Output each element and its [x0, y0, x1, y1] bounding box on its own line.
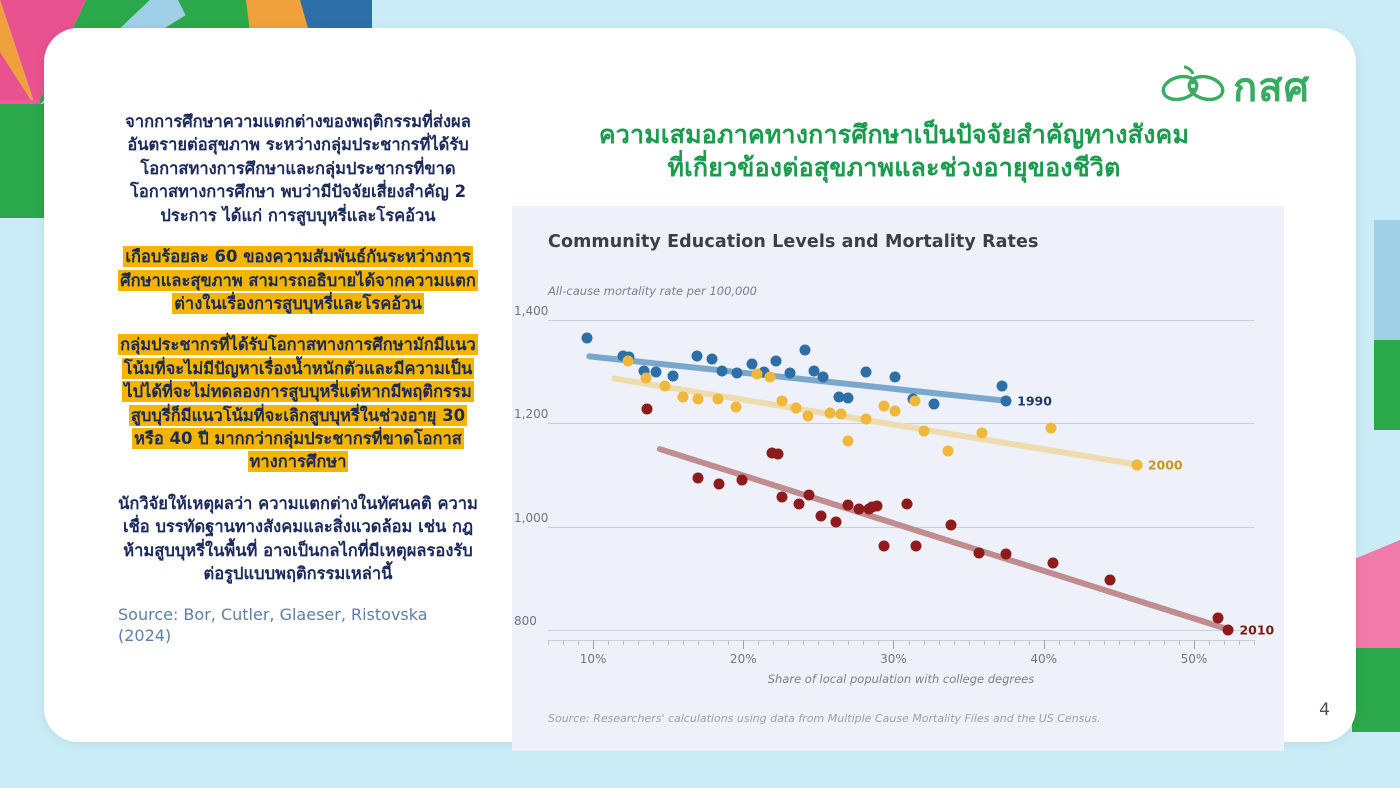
x-tick-minor — [1254, 640, 1255, 645]
data-point-2000 — [889, 406, 900, 417]
x-tick-minor — [1074, 640, 1075, 645]
data-point-1990 — [817, 372, 828, 383]
data-point-2010 — [736, 475, 747, 486]
data-point-1990 — [929, 398, 940, 409]
page-title-line-2: ที่เกี่ยวข้องต่อสุขภาพและช่วงอายุของชีวิ… — [514, 151, 1274, 184]
x-tick-minor — [909, 640, 910, 645]
data-point-2000 — [843, 435, 854, 446]
x-tick-label: 20% — [730, 652, 757, 666]
data-point-2010 — [772, 449, 783, 460]
y-axis-label: All-cause mortality rate per 100,000 — [548, 284, 757, 298]
data-point-2010 — [902, 499, 913, 510]
x-tick-label: 10% — [580, 652, 607, 666]
x-axis: 10%20%30%40%50% — [548, 640, 1254, 641]
data-point-1990 — [651, 366, 662, 377]
data-point-2010 — [945, 520, 956, 531]
data-point-2010 — [642, 404, 653, 415]
brand-wordmark: กสศ — [1233, 68, 1310, 108]
x-tick-minor — [924, 640, 925, 645]
data-point-2010 — [1212, 613, 1223, 624]
gridline — [548, 630, 1254, 631]
x-tick-major — [743, 640, 744, 649]
x-tick-minor — [1224, 640, 1225, 645]
x-tick-minor — [563, 640, 564, 645]
x-tick-minor — [698, 640, 699, 645]
legend-label-1990: 1990 — [1017, 394, 1052, 409]
data-point-2010 — [693, 473, 704, 484]
data-point-2000 — [640, 372, 651, 383]
data-point-2000 — [678, 391, 689, 402]
data-point-2000 — [825, 407, 836, 418]
x-tick-minor — [668, 640, 669, 645]
scatter-plot-area: 1,4001,2001,000800199020002010 — [548, 310, 1254, 640]
data-point-1990 — [996, 380, 1007, 391]
data-point-1990 — [732, 367, 743, 378]
paragraph-4-text: นักวิจัยให้เหตุผลว่า ความแตกต่างในทัศนคต… — [118, 494, 478, 583]
x-tick-label: 30% — [880, 652, 907, 666]
data-point-2000 — [730, 401, 741, 412]
data-point-2010 — [843, 499, 854, 510]
page-title-line-1: ความเสมอภาคทางการศึกษาเป็นปัจจัยสำคัญทาง… — [514, 118, 1274, 151]
data-point-2010 — [831, 517, 842, 528]
x-tick-major — [893, 640, 894, 649]
x-tick-minor — [638, 640, 639, 645]
data-point-1990 — [889, 372, 900, 383]
y-tick-label: 800 — [514, 614, 537, 630]
data-point-2000 — [835, 408, 846, 419]
left-text-column: จากการศึกษาความแตกต่างของพฤติกรรมที่ส่งผ… — [118, 110, 478, 647]
legend-label-2010: 2010 — [1239, 622, 1274, 637]
data-point-2010 — [793, 498, 804, 509]
data-point-2000 — [751, 369, 762, 380]
data-point-2010 — [879, 541, 890, 552]
data-point-2000 — [693, 394, 704, 405]
x-tick-minor — [1119, 640, 1120, 645]
paragraph-2-text: เกือบร้อยละ 60 ของความสัมพันธ์กันระหว่าง… — [118, 246, 478, 314]
x-tick-minor — [1104, 640, 1105, 645]
data-point-2010 — [816, 511, 827, 522]
x-tick-minor — [623, 640, 624, 645]
butterfly-logo-icon — [1161, 64, 1225, 112]
x-tick-minor — [939, 640, 940, 645]
data-point-2010 — [1047, 557, 1058, 568]
x-tick-minor — [578, 640, 579, 645]
legend-marker-2010 — [1223, 624, 1234, 635]
x-tick-minor — [984, 640, 985, 645]
x-tick-minor — [833, 640, 834, 645]
x-tick-label: 50% — [1181, 652, 1208, 666]
bottom-right-decoration — [1352, 540, 1400, 732]
x-tick-minor — [1209, 640, 1210, 645]
x-tick-minor — [1164, 640, 1165, 645]
data-point-2000 — [879, 401, 890, 412]
slide-card: กสศ ความเสมอภาคทางการศึกษาเป็นปัจจัยสำคั… — [44, 28, 1356, 742]
chart-panel: Community Education Levels and Mortality… — [512, 206, 1284, 751]
data-point-1990 — [784, 368, 795, 379]
data-point-2000 — [861, 413, 872, 424]
chart-title: Community Education Levels and Mortality… — [548, 232, 1039, 252]
data-point-2000 — [942, 446, 953, 457]
x-tick-minor — [758, 640, 759, 645]
data-point-2000 — [765, 372, 776, 383]
data-point-2000 — [909, 396, 920, 407]
x-tick-minor — [1089, 640, 1090, 645]
x-tick-major — [1044, 640, 1045, 649]
x-tick-minor — [683, 640, 684, 645]
data-point-1990 — [843, 393, 854, 404]
trendline-2010 — [656, 445, 1230, 632]
x-tick-minor — [969, 640, 970, 645]
x-tick-minor — [1014, 640, 1015, 645]
x-tick-minor — [653, 640, 654, 645]
data-point-2010 — [1104, 575, 1115, 586]
x-tick-minor — [773, 640, 774, 645]
paragraph-1: จากการศึกษาความแตกต่างของพฤติกรรมที่ส่งผ… — [118, 110, 478, 227]
paragraph-3-text: กลุ่มประชากรที่ได้รับโอกาสทางการศึกษามัก… — [118, 334, 478, 472]
data-point-2010 — [871, 500, 882, 511]
legend-label-2000: 2000 — [1148, 457, 1183, 472]
data-point-2000 — [622, 355, 633, 366]
data-point-1990 — [582, 332, 593, 343]
page-number: 4 — [1319, 700, 1330, 720]
data-point-2010 — [911, 541, 922, 552]
data-point-1990 — [706, 353, 717, 364]
x-tick-minor — [1149, 640, 1150, 645]
data-point-2000 — [660, 381, 671, 392]
data-point-2010 — [714, 479, 725, 490]
data-point-1990 — [861, 367, 872, 378]
data-point-2000 — [777, 396, 788, 407]
x-tick-label: 40% — [1030, 652, 1057, 666]
data-point-2000 — [790, 402, 801, 413]
data-point-1990 — [799, 344, 810, 355]
right-edge-decoration — [1374, 220, 1400, 430]
paragraph-2-highlighted: เกือบร้อยละ 60 ของความสัมพันธ์กันระหว่าง… — [118, 245, 478, 315]
x-tick-minor — [788, 640, 789, 645]
x-tick-minor — [999, 640, 1000, 645]
paragraph-1-text: จากการศึกษาความแตกต่างของพฤติกรรมที่ส่งผ… — [125, 112, 471, 225]
data-point-2010 — [1001, 549, 1012, 560]
data-point-2010 — [804, 489, 815, 500]
legend-marker-1990 — [1001, 396, 1012, 407]
chart-source-citation: Source: Researchers' calculations using … — [548, 712, 1101, 725]
y-tick-label: 1,200 — [514, 407, 548, 423]
x-tick-minor — [1239, 640, 1240, 645]
x-tick-minor — [548, 640, 549, 645]
data-point-2000 — [977, 427, 988, 438]
data-point-1990 — [667, 371, 678, 382]
data-point-2010 — [974, 548, 985, 559]
data-point-1990 — [717, 365, 728, 376]
x-tick-minor — [848, 640, 849, 645]
x-tick-minor — [608, 640, 609, 645]
y-tick-label: 1,400 — [514, 304, 548, 320]
legend-marker-2000 — [1131, 459, 1142, 470]
data-point-1990 — [691, 351, 702, 362]
data-point-2010 — [777, 491, 788, 502]
x-tick-minor — [713, 640, 714, 645]
x-tick-minor — [818, 640, 819, 645]
x-tick-minor — [1134, 640, 1135, 645]
brand-logo: กสศ — [1161, 64, 1310, 112]
data-point-2000 — [712, 394, 723, 405]
paragraph-4: นักวิจัยให้เหตุผลว่า ความแตกต่างในทัศนคต… — [118, 492, 478, 586]
gridline — [548, 320, 1254, 321]
y-tick-label: 1,000 — [514, 511, 548, 527]
data-point-2000 — [1046, 422, 1057, 433]
x-tick-minor — [803, 640, 804, 645]
x-tick-major — [1194, 640, 1195, 649]
x-axis-label: Share of local population with college d… — [548, 672, 1254, 686]
page-title: ความเสมอภาคทางการศึกษาเป็นปัจจัยสำคัญทาง… — [514, 118, 1274, 184]
x-tick-minor — [1029, 640, 1030, 645]
paragraph-3-highlighted: กลุ่มประชากรที่ได้รับโอกาสทางการศึกษามัก… — [118, 333, 478, 474]
data-point-2000 — [918, 425, 929, 436]
x-tick-minor — [1179, 640, 1180, 645]
x-tick-minor — [954, 640, 955, 645]
x-tick-minor — [878, 640, 879, 645]
data-point-2010 — [853, 503, 864, 514]
data-point-1990 — [771, 355, 782, 366]
x-tick-minor — [863, 640, 864, 645]
data-point-2000 — [802, 410, 813, 421]
x-tick-major — [593, 640, 594, 649]
left-source-citation: Source: Bor, Cutler, Glaeser, Ristovska … — [118, 604, 478, 647]
x-tick-minor — [1059, 640, 1060, 645]
x-tick-minor — [728, 640, 729, 645]
